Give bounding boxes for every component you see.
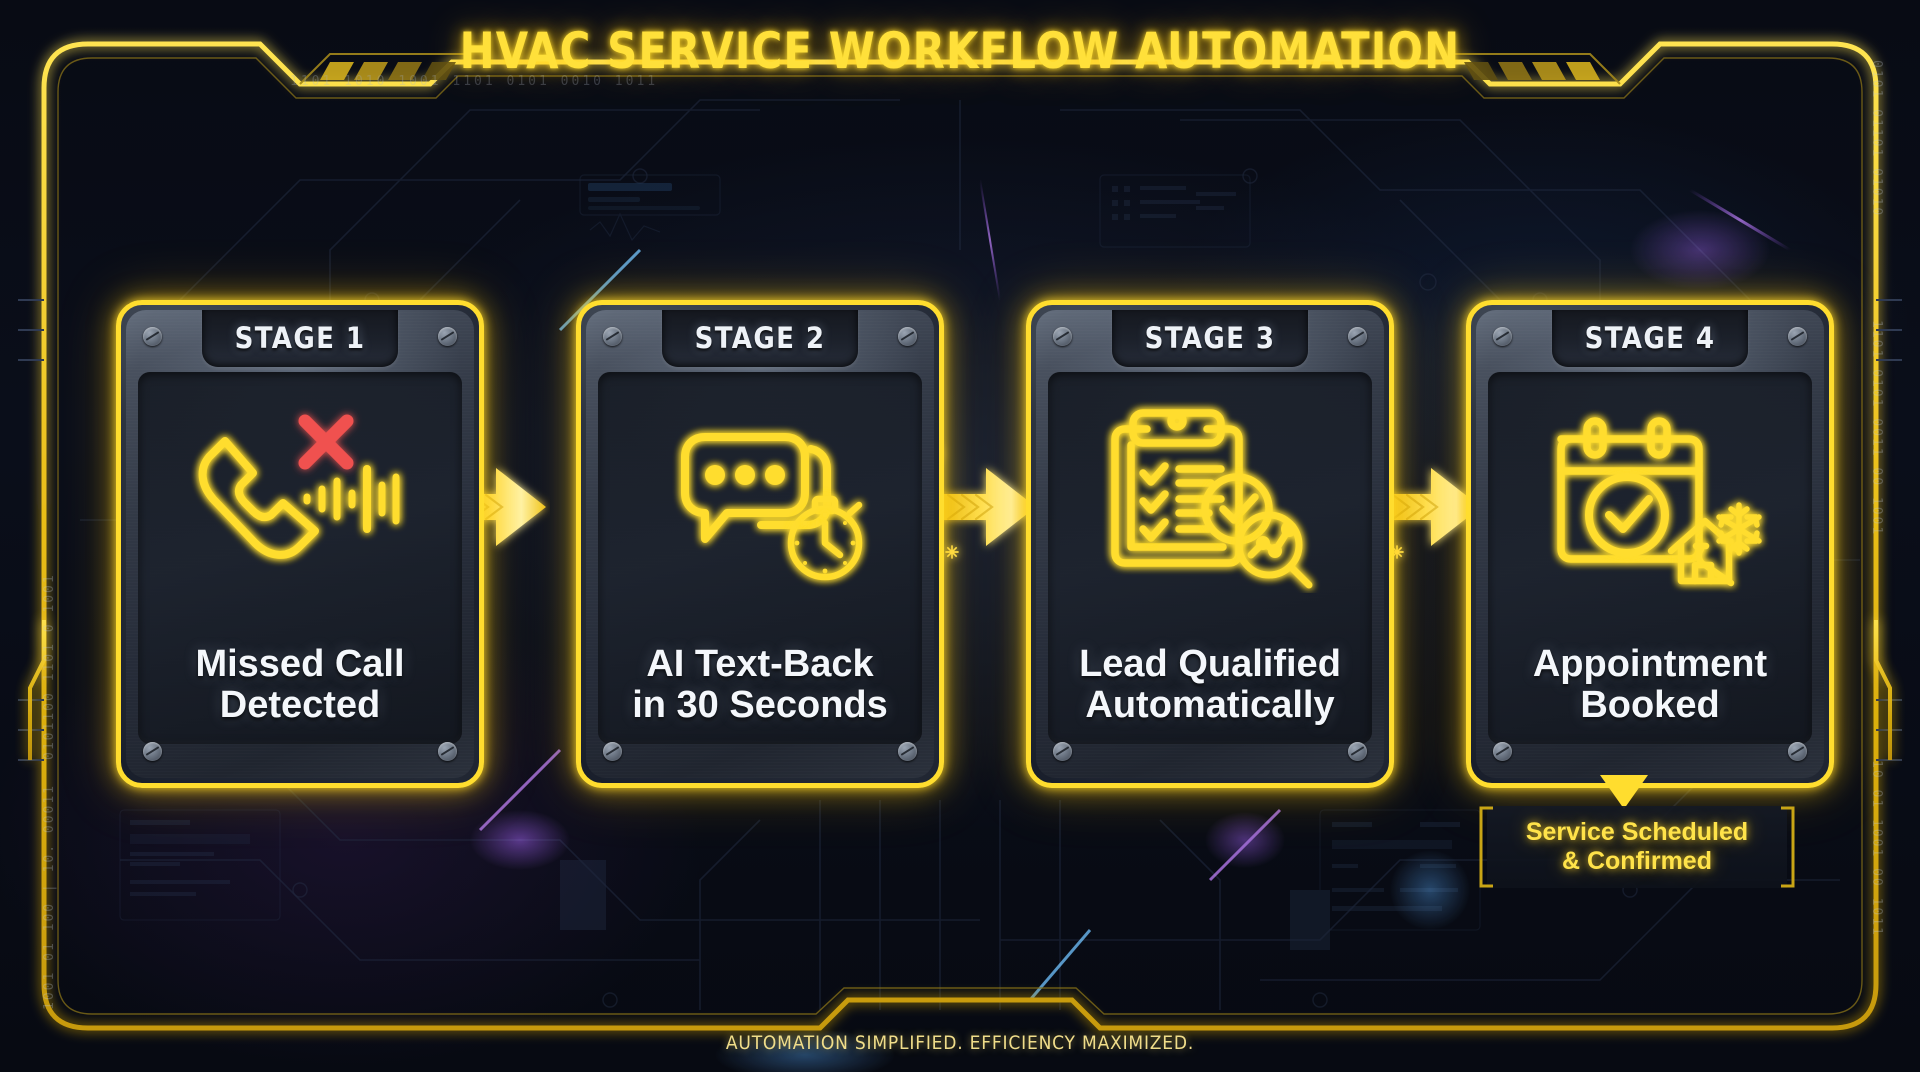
footer-tagline: AUTOMATION SIMPLIFIED. EFFICIENCY MAXIMI… [0,1032,1920,1054]
stage-card-3[interactable]: STAGE 3 [1026,300,1394,788]
screw-bottom-right-1 [438,742,457,761]
screw-top-left-1 [143,327,162,346]
banner-line1: Service Scheduled [1526,818,1748,846]
screw-bottom-left-1 [143,742,162,761]
stage-label-line2-4: Booked [1490,685,1810,726]
banner-line2: & Confirmed [1562,847,1712,875]
decor-binary-right-top: 0101 01101 01010 [1869,60,1884,217]
stage-icon-3 [1036,388,1384,598]
card-surface-3: STAGE 3 [1036,310,1384,778]
screw-top-right-4 [1788,327,1807,346]
stage-cards-row: STAGE 1 [0,300,1920,780]
screw-top-right-1 [438,327,457,346]
stage-label-line1-4: Appointment [1490,644,1810,685]
stage-label-2: AI Text-Back in 30 Seconds [600,644,920,726]
calendar-check-house-snowflake-icon [1525,393,1775,593]
card-surface-4: STAGE 4 [1476,310,1824,778]
screw-top-right-3 [1348,327,1367,346]
stage-card-1[interactable]: STAGE 1 [116,300,484,788]
screw-bottom-right-3 [1348,742,1367,761]
stage-tab-label-4: STAGE 4 [1585,321,1716,355]
stage-icon-1 [126,388,474,598]
bracket-right-icon [1779,806,1799,888]
title-container: HVAC SERVICE WORKFLOW AUTOMATION [0,22,1920,80]
stage-tab-4: STAGE 4 [1552,310,1748,367]
stage-label-line2-1: Detected [140,685,460,726]
stage-tab-3: STAGE 3 [1112,310,1308,367]
screw-top-left-2 [603,327,622,346]
stage-tab-label-2: STAGE 2 [695,321,826,355]
bracket-left-icon [1475,806,1495,888]
stage-tab-1: STAGE 1 [202,310,398,367]
decor-binary-left-bottom: 1001 01 100 | 10. 00011 [42,784,57,1010]
stage-icon-4 [1476,388,1824,598]
screw-top-left-3 [1053,327,1072,346]
stage-tab-label-3: STAGE 3 [1145,321,1276,355]
page-title: HVAC SERVICE WORKFLOW AUTOMATION [460,22,1461,80]
stage-tab-label-1: STAGE 1 [235,321,366,355]
chat-bubble-stopwatch-icon [635,393,885,593]
infographic-canvas: 1101 1010 1001 1101 0101 0010 1011 01011… [0,0,1920,1072]
banner-text: Service Scheduled & Confirmed [1526,818,1748,876]
phone-missed-call-icon [175,393,425,593]
decor-binary-right-bottom: 10 01 1001 00 1011 [1869,760,1884,937]
screw-bottom-left-3 [1053,742,1072,761]
stage-label-4: Appointment Booked [1490,644,1810,726]
stage-label-line1-3: Lead Qualified [1050,644,1370,685]
card-surface-1: STAGE 1 [126,310,474,778]
screw-bottom-left-4 [1493,742,1512,761]
stage-label-line1-2: AI Text-Back [600,644,920,685]
screw-bottom-left-2 [603,742,622,761]
stage-label-line1-1: Missed Call [140,644,460,685]
stage-card-2[interactable]: STAGE 2 [576,300,944,788]
screw-bottom-right-4 [1788,742,1807,761]
screw-top-right-2 [898,327,917,346]
stage-label-line2-2: in 30 Seconds [600,685,920,726]
stage-icon-2 [586,388,934,598]
stage-card-4[interactable]: STAGE 4 [1466,300,1834,788]
stage-label-line2-3: Automatically [1050,685,1370,726]
card-surface-2: STAGE 2 [586,310,934,778]
stage-label-1: Missed Call Detected [140,644,460,726]
stage-tab-2: STAGE 2 [662,310,858,367]
screw-top-left-4 [1493,327,1512,346]
screw-bottom-right-2 [898,742,917,761]
clipboard-check-magnifier-icon [1085,393,1335,593]
stage-label-3: Lead Qualified Automatically [1050,644,1370,726]
outcome-banner: Service Scheduled & Confirmed [1487,806,1787,888]
